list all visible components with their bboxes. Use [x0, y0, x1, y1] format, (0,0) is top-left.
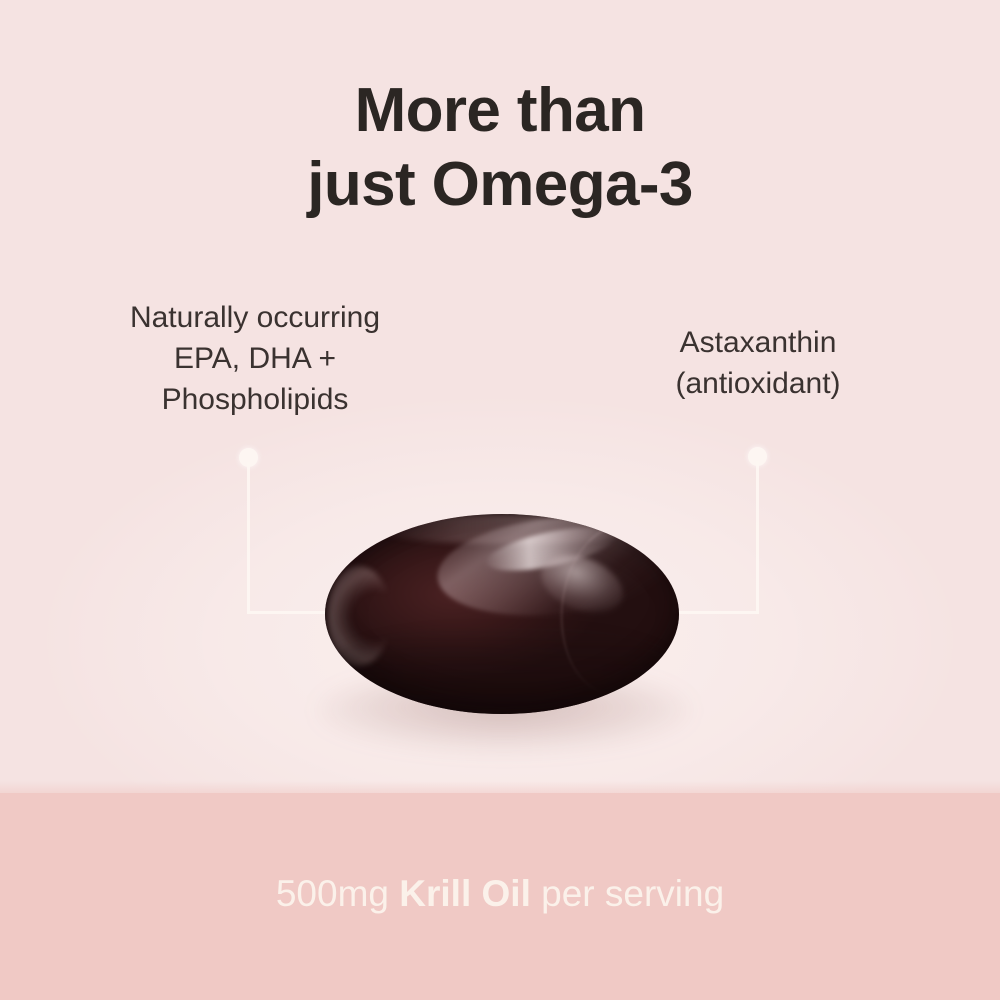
- serving-banner-suffix: per serving: [531, 873, 724, 914]
- leader-line-left-horizontal: [247, 611, 333, 614]
- capsule-bottom-shading: [325, 622, 679, 714]
- page-title-line-2: just Omega-3: [0, 148, 1000, 222]
- serving-banner-prefix: 500mg: [276, 873, 399, 914]
- leader-line-left-vertical: [247, 462, 250, 614]
- annotation-label-left-line-2: EPA, DHA +: [65, 338, 445, 379]
- krill-oil-softgel-capsule: [325, 514, 679, 714]
- annotation-label-left: Naturally occurring EPA, DHA + Phospholi…: [65, 297, 445, 420]
- serving-banner-emphasis: Krill Oil: [399, 873, 531, 914]
- leader-line-right-horizontal: [668, 611, 759, 614]
- annotation-label-left-line-3: Phospholipids: [65, 379, 445, 420]
- annotation-label-right-line-1: Astaxanthin: [612, 322, 904, 363]
- annotation-label-right-line-2: (antioxidant): [612, 363, 904, 404]
- page-title: More than just Omega-3: [0, 74, 1000, 222]
- annotation-label-right: Astaxanthin (antioxidant): [612, 322, 904, 404]
- product-infographic: More than just Omega-3 Naturally occurri…: [0, 0, 1000, 1000]
- serving-banner: 500mg Krill Oil per serving: [0, 870, 1000, 917]
- leader-line-right-vertical: [756, 461, 759, 614]
- page-title-line-1: More than: [0, 74, 1000, 148]
- background-band-seam: [0, 781, 1000, 807]
- annotation-label-left-line-1: Naturally occurring: [65, 297, 445, 338]
